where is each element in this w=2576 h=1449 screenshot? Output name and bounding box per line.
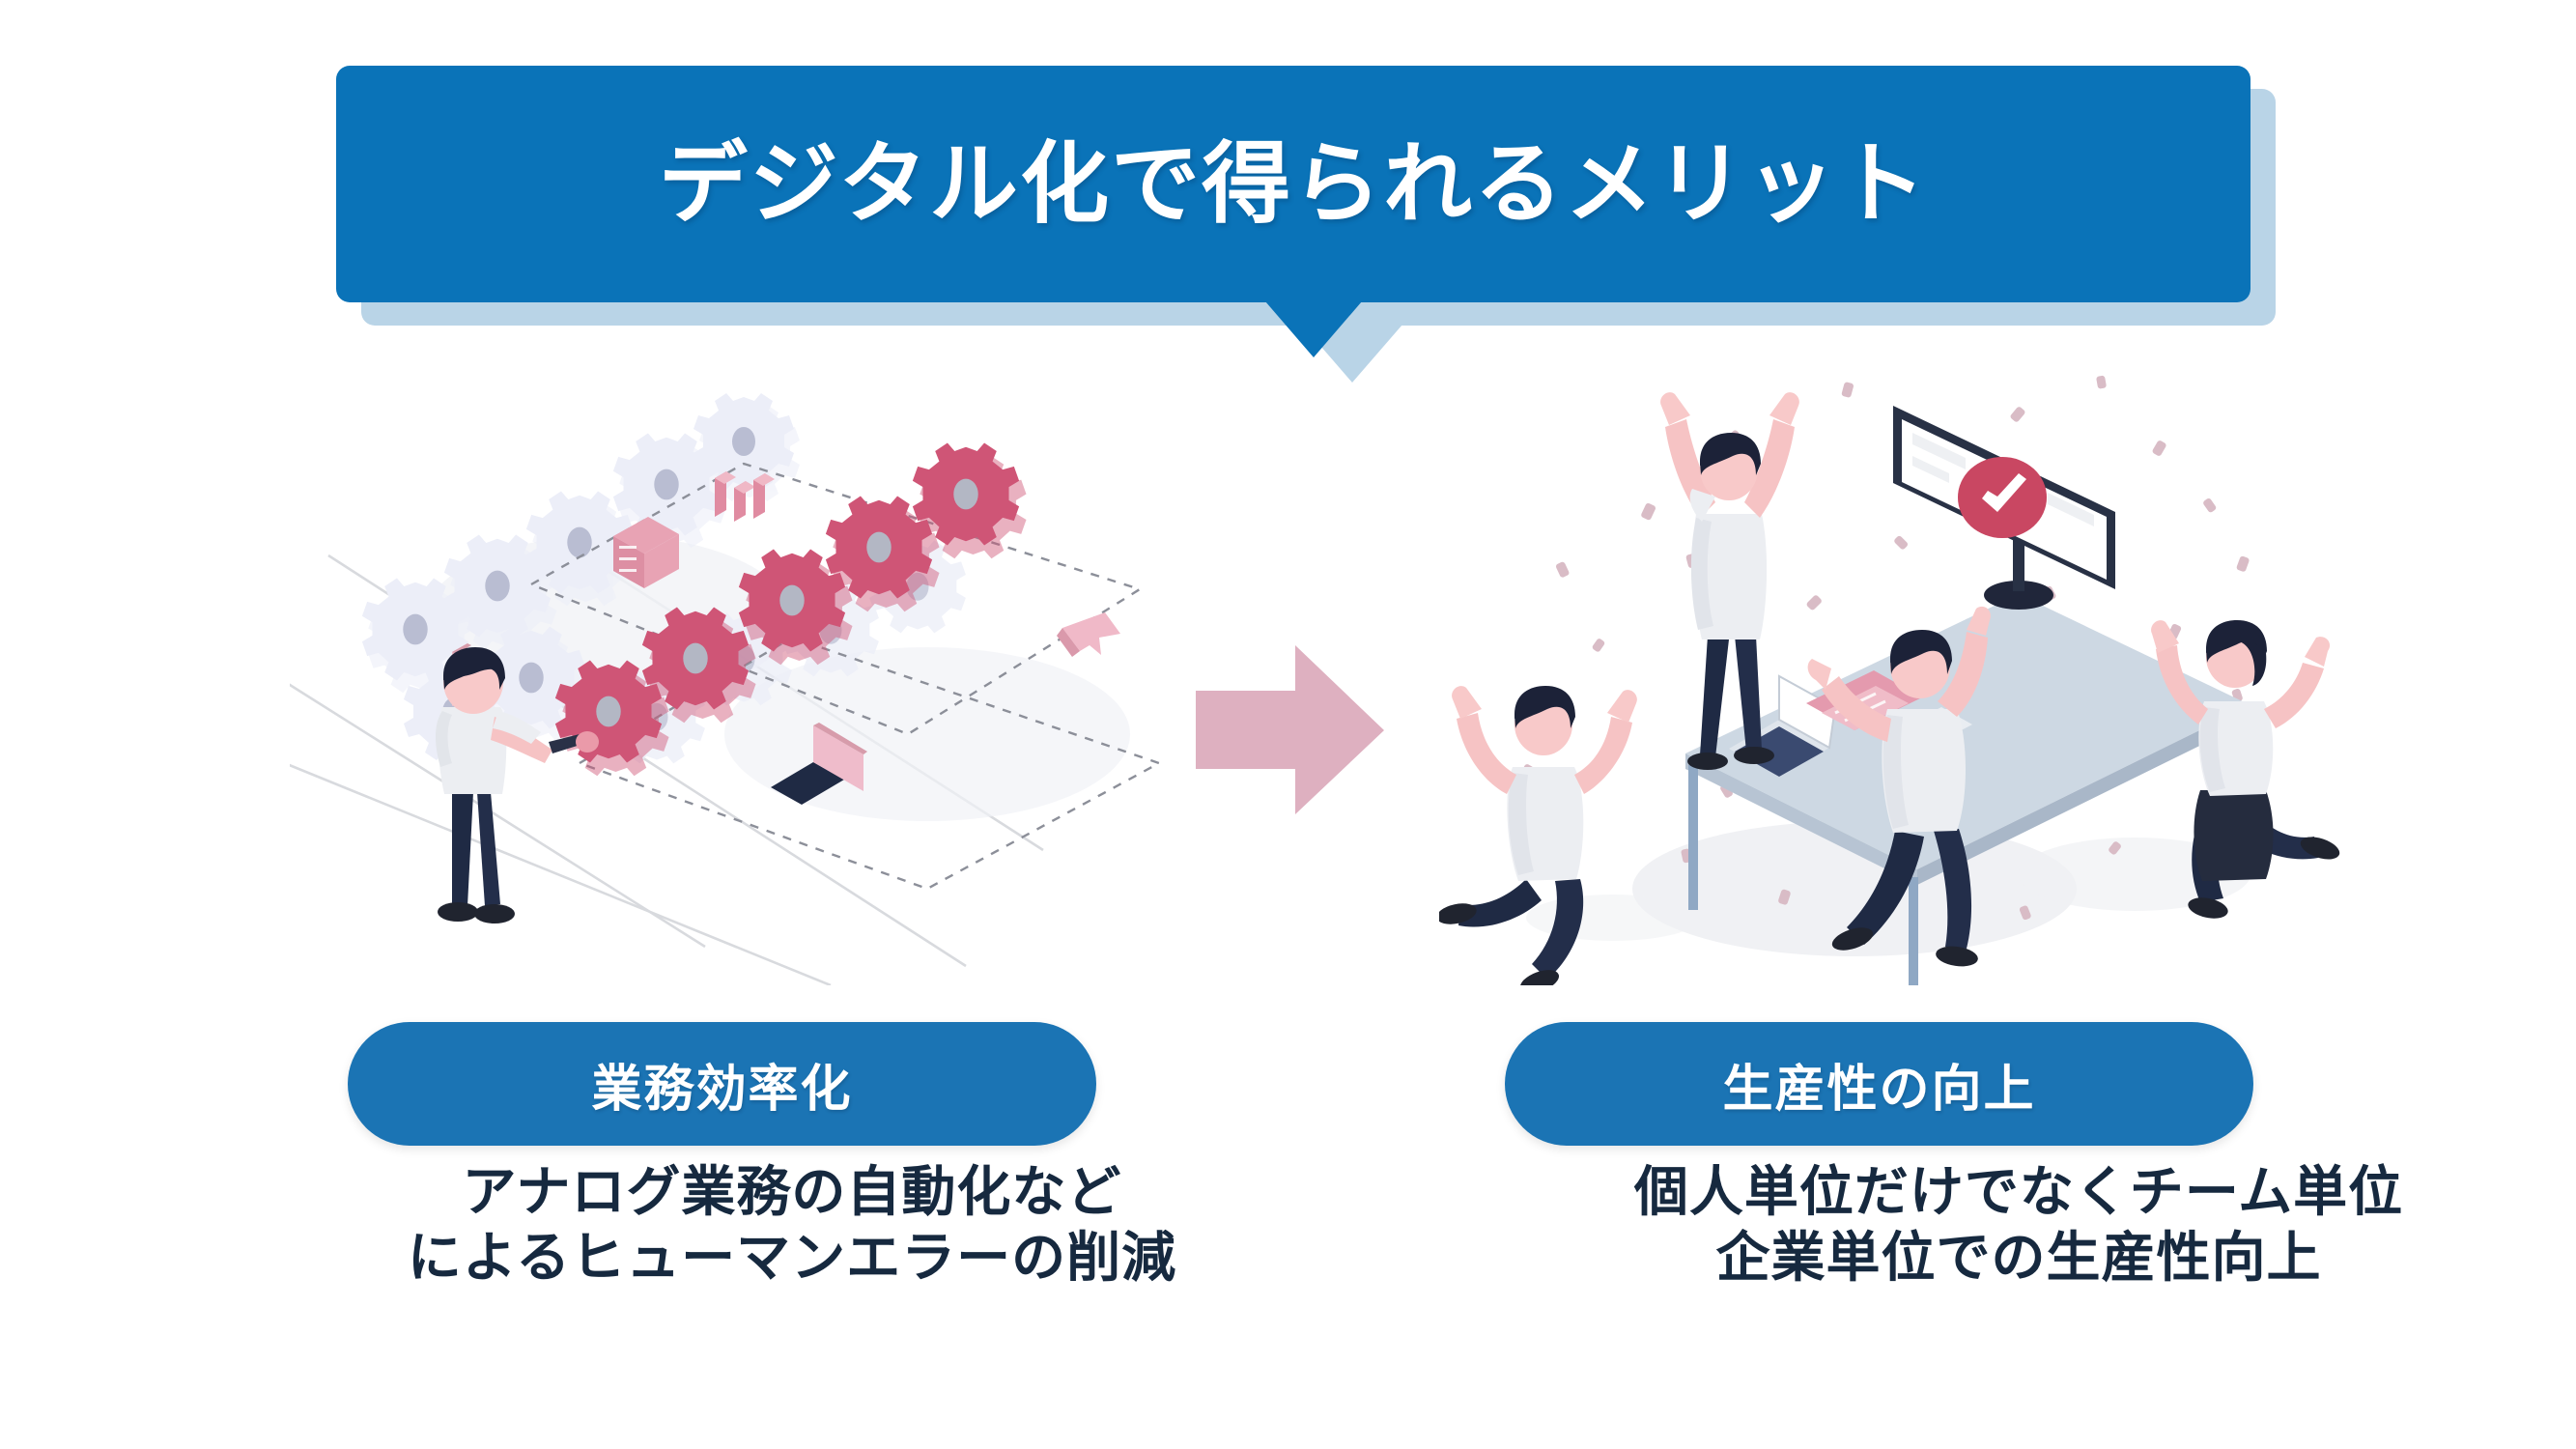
badge-left[interactable]: 業務効率化 (348, 1022, 1096, 1146)
badge-left-label: 業務効率化 (591, 1048, 852, 1121)
desktop-monitor (1893, 406, 2115, 610)
caption-left-line-2: によるヒューマンエラーの削減 (280, 1225, 1304, 1291)
cursor-icon (1057, 612, 1120, 657)
gears-scene-svg (290, 348, 1314, 985)
right-column (1439, 348, 2463, 985)
caption-right: 個人単位だけでなくチーム単位 企業単位での生産性向上 (1507, 1159, 2531, 1292)
badge-right[interactable]: 生産性の向上 (1505, 1022, 2253, 1146)
badge-right-label: 生産性の向上 (1722, 1048, 2035, 1121)
celebrating-team-illustration (1439, 348, 2463, 985)
celebration-scene-svg (1439, 348, 2463, 985)
title-banner: デジタル化で得られるメリット (336, 66, 2250, 302)
caption-left-line-1: アナログ業務の自動化など (280, 1159, 1304, 1225)
left-column (290, 348, 1314, 985)
automation-gears-illustration (290, 348, 1314, 985)
caption-right-line-1: 個人単位だけでなくチーム単位 (1507, 1159, 2531, 1225)
banner-body: デジタル化で得られるメリット (336, 66, 2250, 302)
page-title: デジタル化で得られるメリット (659, 140, 1928, 229)
slide-canvas: デジタル化で得られるメリット (0, 0, 2576, 1449)
right-arrow-icon (1196, 645, 1384, 814)
caption-left: アナログ業務の自動化など によるヒューマンエラーの削減 (280, 1159, 1304, 1292)
caption-right-line-2: 企業単位での生産性向上 (1507, 1225, 2531, 1291)
